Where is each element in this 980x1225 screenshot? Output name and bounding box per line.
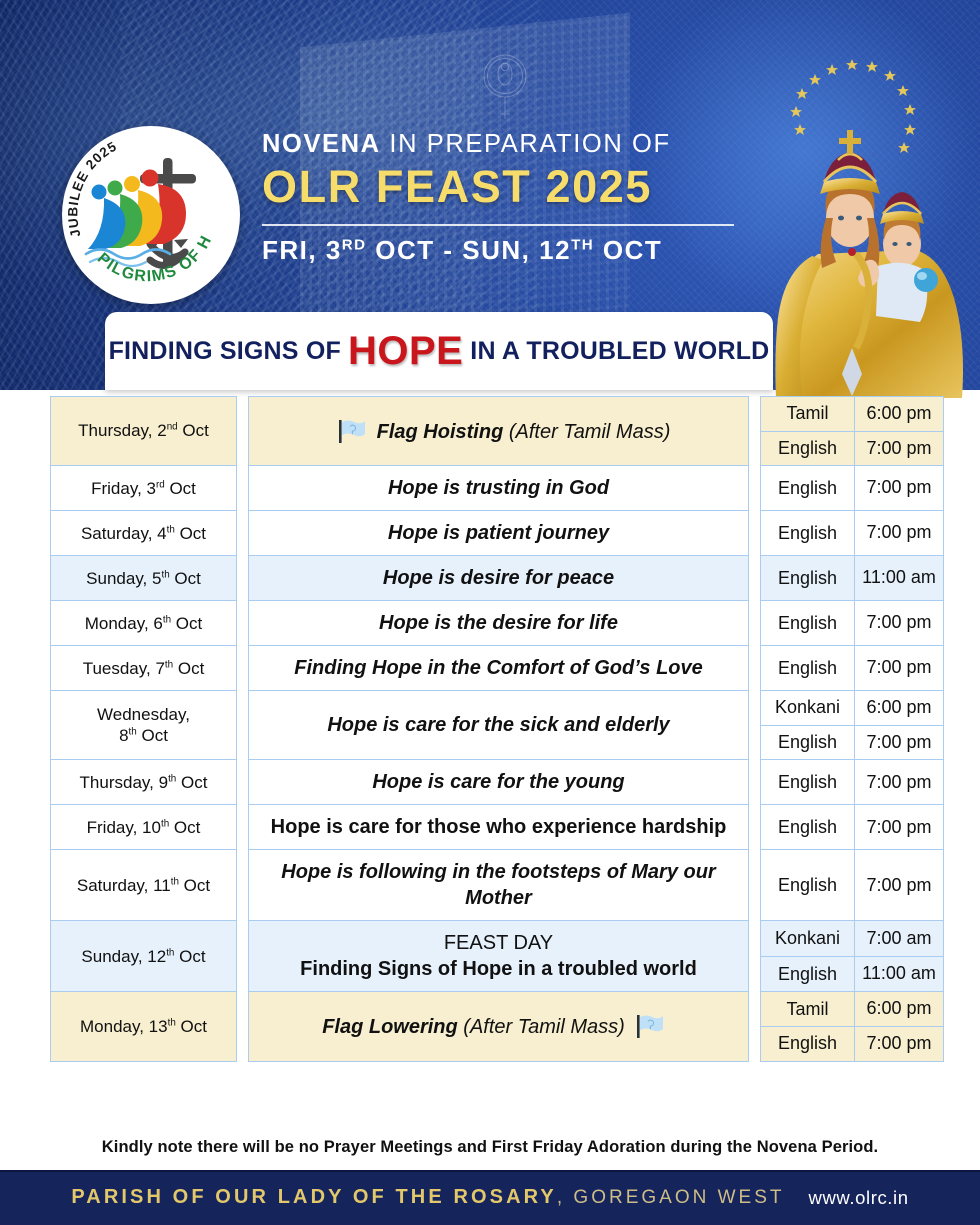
cell-spacer-2 — [749, 646, 761, 691]
table-row: Sunday, 12th OctFEAST DAYFinding Signs o… — [51, 921, 944, 957]
date-line: Tuesday, 7th Oct — [55, 658, 232, 679]
table-row: Wednesday,8th OctHope is care for the si… — [51, 691, 944, 726]
event-title: Hope is desire for peace — [383, 567, 614, 589]
table-row: Monday, 13th OctFlag Lowering (After Tam… — [51, 992, 944, 1027]
cell-time: 7:00 pm — [855, 725, 944, 760]
cell-language: English — [761, 760, 855, 805]
cell-date: Friday, 3rd Oct — [51, 466, 237, 511]
schedule-table: Thursday, 2nd OctFlag Hoisting (After Ta… — [50, 396, 944, 1062]
cell-language: English — [761, 725, 855, 760]
date-line: Monday, 6th Oct — [55, 613, 232, 634]
cell-language: Konkani — [761, 691, 855, 726]
cell-language: English — [761, 466, 855, 511]
date-line: Sunday, 12th Oct — [55, 946, 232, 967]
event-title: Hope is patient journey — [388, 522, 609, 544]
cell-language: English — [761, 646, 855, 691]
cell-time: 6:00 pm — [855, 992, 944, 1027]
cell-time: 7:00 pm — [855, 760, 944, 805]
event-title: Finding Hope in the Comfort of God’s Lov… — [294, 657, 703, 679]
table-row: Sunday, 5th OctHope is desire for peaceE… — [51, 556, 944, 601]
date-line: Saturday, 4th Oct — [55, 523, 232, 544]
cell-event: Hope is care for those who experience ha… — [249, 805, 749, 850]
event-title: Hope is following in the footsteps of Ma… — [281, 861, 715, 909]
table-row: Saturday, 4th OctHope is patient journey… — [51, 511, 944, 556]
cell-time: 7:00 pm — [855, 601, 944, 646]
footer-bar: PARISH OF OUR LADY OF THE ROSARY , GOREG… — [0, 1170, 980, 1225]
cell-spacer-2 — [749, 691, 761, 760]
cell-spacer — [237, 760, 249, 805]
date-line: 8th Oct — [55, 725, 232, 746]
header-date-range: FRI, 3RD OCT - SUN, 12TH OCT — [262, 235, 752, 266]
date-range-sup1: RD — [342, 236, 367, 253]
cell-language: Tamil — [761, 397, 855, 432]
cell-time: 7:00 pm — [855, 805, 944, 850]
date-line: Saturday, 11th Oct — [55, 875, 232, 896]
event-subtitle: (After Tamil Mass) — [503, 421, 670, 443]
cell-spacer-2 — [749, 601, 761, 646]
cell-spacer-2 — [749, 466, 761, 511]
cell-spacer — [237, 556, 249, 601]
event-title: Flag Lowering — [322, 1016, 458, 1038]
table-row: Friday, 10th OctHope is care for those w… — [51, 805, 944, 850]
date-line: Friday, 10th Oct — [55, 817, 232, 838]
table-row: Tuesday, 7th OctFinding Hope in the Comf… — [51, 646, 944, 691]
cell-date: Monday, 13th Oct — [51, 992, 237, 1061]
cell-event: Hope is following in the footsteps of Ma… — [249, 850, 749, 921]
cell-language: English — [761, 1026, 855, 1061]
jubilee-logo: JUBILEE 2025 PILGRIMS OF HOPE — [62, 126, 240, 304]
cell-event: Hope is patient journey — [249, 511, 749, 556]
cell-language: English — [761, 431, 855, 466]
cell-event: Hope is the desire for life — [249, 601, 749, 646]
cell-spacer — [237, 691, 249, 760]
header-block: NOVENA IN PREPARATION OF OLR FEAST 2025 … — [262, 130, 752, 266]
cell-spacer — [237, 992, 249, 1061]
header-divider — [262, 224, 734, 226]
cell-spacer-2 — [749, 760, 761, 805]
cell-date: Friday, 10th Oct — [51, 805, 237, 850]
flag-icon — [635, 1013, 665, 1039]
cell-event: Flag Hoisting (After Tamil Mass) — [249, 397, 749, 466]
cell-time: 7:00 am — [855, 921, 944, 957]
note-area: Kindly note there will be no Prayer Meet… — [0, 1125, 980, 1169]
cell-event: Hope is care for the young — [249, 760, 749, 805]
cell-language: English — [761, 805, 855, 850]
cell-time: 6:00 pm — [855, 691, 944, 726]
cell-date: Monday, 6th Oct — [51, 601, 237, 646]
event-title: Hope is trusting in God — [388, 477, 609, 499]
event-title: Hope is care for the sick and elderly — [327, 714, 669, 736]
cell-spacer — [237, 511, 249, 556]
footer-location: , GOREGAON WEST — [557, 1187, 785, 1209]
cell-time: 11:00 am — [855, 556, 944, 601]
cell-language: English — [761, 956, 855, 992]
header-subtitle-rest: IN PREPARATION OF — [381, 130, 671, 158]
footer-top-edge — [0, 1170, 980, 1172]
cell-time: 7:00 pm — [855, 466, 944, 511]
cell-spacer — [237, 601, 249, 646]
cell-event: Finding Hope in the Comfort of God’s Lov… — [249, 646, 749, 691]
novena-note: Kindly note there will be no Prayer Meet… — [102, 1138, 878, 1157]
theme-text-hope: HOPE — [341, 329, 470, 374]
cell-date: Sunday, 12th Oct — [51, 921, 237, 992]
table-row: Saturday, 11th OctHope is following in t… — [51, 850, 944, 921]
cell-spacer-2 — [749, 397, 761, 466]
date-range-pre: FRI, 3 — [262, 235, 342, 265]
cell-date: Saturday, 4th Oct — [51, 511, 237, 556]
event-feast-label: FEAST DAY — [259, 930, 738, 956]
cell-spacer-2 — [749, 850, 761, 921]
cell-event: Flag Lowering (After Tamil Mass) — [249, 992, 749, 1061]
cell-spacer-2 — [749, 921, 761, 992]
footer-website-url[interactable]: www.olrc.in — [809, 1187, 909, 1209]
date-line: Sunday, 5th Oct — [55, 568, 232, 589]
event-subtitle: (After Tamil Mass) — [458, 1016, 625, 1038]
event-title: Hope is care for those who experience ha… — [271, 816, 727, 838]
cell-date: Thursday, 2nd Oct — [51, 397, 237, 466]
header-title: OLR FEAST 2025 — [262, 161, 752, 213]
our-lady-statue-image — [760, 48, 972, 398]
cell-spacer — [237, 466, 249, 511]
header-novena-word: NOVENA — [262, 130, 381, 158]
date-range-end: OCT — [594, 235, 662, 265]
cell-language: English — [761, 556, 855, 601]
cell-date: Tuesday, 7th Oct — [51, 646, 237, 691]
date-line: Thursday, 9th Oct — [55, 772, 232, 793]
event-feast-theme: Finding Signs of Hope in a troubled worl… — [259, 956, 738, 982]
cell-date: Sunday, 5th Oct — [51, 556, 237, 601]
date-line: Friday, 3rd Oct — [55, 478, 232, 499]
cell-event: Hope is desire for peace — [249, 556, 749, 601]
event-title: Flag Hoisting — [377, 421, 504, 443]
cell-spacer-2 — [749, 556, 761, 601]
date-line: Wednesday, — [55, 704, 232, 725]
cell-event: Hope is care for the sick and elderly — [249, 691, 749, 760]
schedule-table-body: Thursday, 2nd OctFlag Hoisting (After Ta… — [51, 397, 944, 1062]
cell-date: Saturday, 11th Oct — [51, 850, 237, 921]
cell-time: 11:00 am — [855, 956, 944, 992]
cell-language: Konkani — [761, 921, 855, 957]
cell-language: English — [761, 850, 855, 921]
table-row: Thursday, 2nd OctFlag Hoisting (After Ta… — [51, 397, 944, 432]
cell-language: English — [761, 601, 855, 646]
theme-banner: FINDING SIGNS OF HOPE IN A TROUBLED WORL… — [105, 312, 773, 390]
cell-event: FEAST DAYFinding Signs of Hope in a trou… — [249, 921, 749, 992]
cell-time: 7:00 pm — [855, 431, 944, 466]
cell-spacer-2 — [749, 992, 761, 1061]
footer-parish-name: PARISH OF OUR LADY OF THE ROSARY — [71, 1186, 557, 1209]
cell-spacer — [237, 850, 249, 921]
theme-text-after: IN A TROUBLED WORLD — [470, 337, 769, 366]
table-row: Monday, 6th OctHope is the desire for li… — [51, 601, 944, 646]
cell-time: 7:00 pm — [855, 511, 944, 556]
table-row: Thursday, 9th OctHope is care for the yo… — [51, 760, 944, 805]
cell-spacer — [237, 805, 249, 850]
cell-date: Thursday, 9th Oct — [51, 760, 237, 805]
cell-spacer — [237, 397, 249, 466]
cell-spacer — [237, 921, 249, 992]
date-line: Thursday, 2nd Oct — [55, 420, 232, 441]
flag-icon — [337, 418, 367, 444]
event-title: Hope is the desire for life — [379, 612, 618, 634]
date-range-sup2: TH — [571, 236, 594, 253]
cell-time: 7:00 pm — [855, 646, 944, 691]
cell-time: 6:00 pm — [855, 397, 944, 432]
cell-time: 7:00 pm — [855, 850, 944, 921]
cell-spacer-2 — [749, 511, 761, 556]
cell-spacer-2 — [749, 805, 761, 850]
novena-schedule: Thursday, 2nd OctFlag Hoisting (After Ta… — [50, 396, 931, 1062]
table-row: Friday, 3rd OctHope is trusting in GodEn… — [51, 466, 944, 511]
header-subtitle: NOVENA IN PREPARATION OF — [262, 130, 752, 159]
cell-date: Wednesday,8th Oct — [51, 691, 237, 760]
cell-language: English — [761, 511, 855, 556]
cell-language: Tamil — [761, 992, 855, 1027]
cell-spacer — [237, 646, 249, 691]
parish-seal-watermark — [455, 48, 555, 120]
date-line: Monday, 13th Oct — [55, 1016, 232, 1037]
cell-event: Hope is trusting in God — [249, 466, 749, 511]
event-title: Hope is care for the young — [372, 771, 624, 793]
date-range-mid: OCT - SUN, 12 — [367, 235, 571, 265]
cell-time: 7:00 pm — [855, 1026, 944, 1061]
theme-text-before: FINDING SIGNS OF — [109, 337, 341, 366]
